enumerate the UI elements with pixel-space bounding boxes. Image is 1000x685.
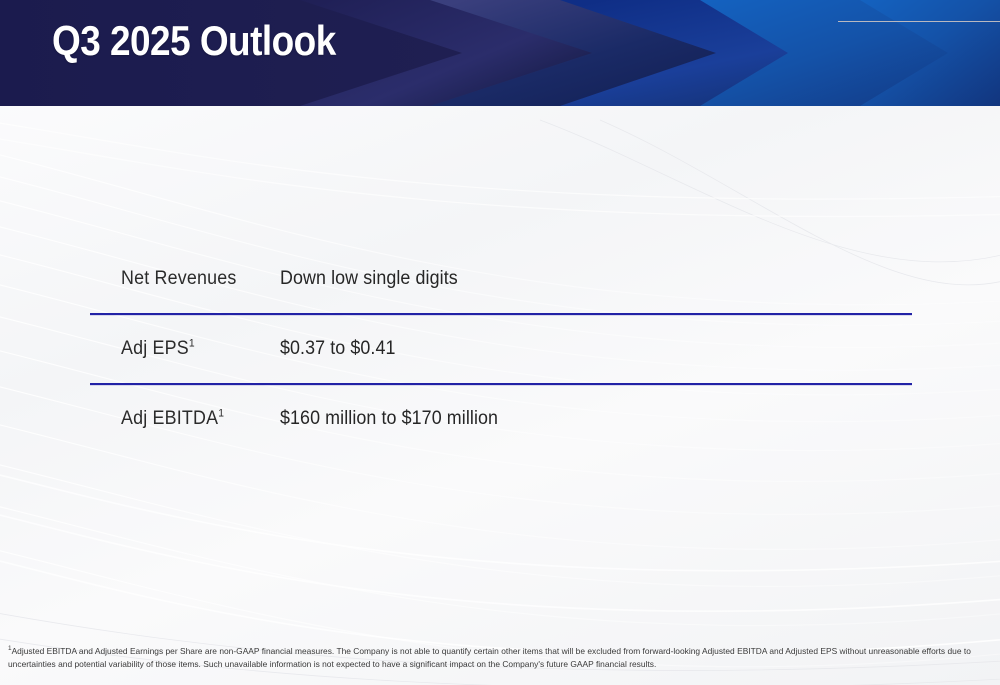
footnote-marker: 1 (218, 408, 224, 420)
header-hairline-rule (838, 21, 1000, 22)
row-value: $0.37 to $0.41 (280, 338, 874, 360)
row-label-text: Adj EBITDA (121, 408, 218, 429)
table-row: Net Revenues Down low single digits (90, 245, 912, 313)
outlook-table: Net Revenues Down low single digits Adj … (90, 245, 912, 453)
table-row: Adj EPS1 $0.37 to $0.41 (90, 315, 912, 383)
row-label: Adj EBITDA1 (90, 408, 269, 430)
footnote-marker: 1 (189, 338, 195, 350)
footnote: 1Adjusted EBITDA and Adjusted Earnings p… (8, 645, 976, 671)
row-label: Net Revenues (90, 268, 269, 290)
row-label-text: Net Revenues (121, 268, 236, 289)
presentation-slide: Q3 2025 Outlook Net Revenues Down low si… (0, 0, 1000, 685)
row-label: Adj EPS1 (90, 338, 269, 360)
row-label-text: Adj EPS (121, 338, 189, 359)
table-row: Adj EBITDA1 $160 million to $170 million (90, 385, 912, 453)
slide-header-band: Q3 2025 Outlook (0, 0, 1000, 106)
row-value: Down low single digits (280, 268, 874, 290)
footnote-text: Adjusted EBITDA and Adjusted Earnings pe… (8, 646, 971, 669)
row-value: $160 million to $170 million (280, 408, 874, 430)
page-title: Q3 2025 Outlook (52, 17, 336, 65)
